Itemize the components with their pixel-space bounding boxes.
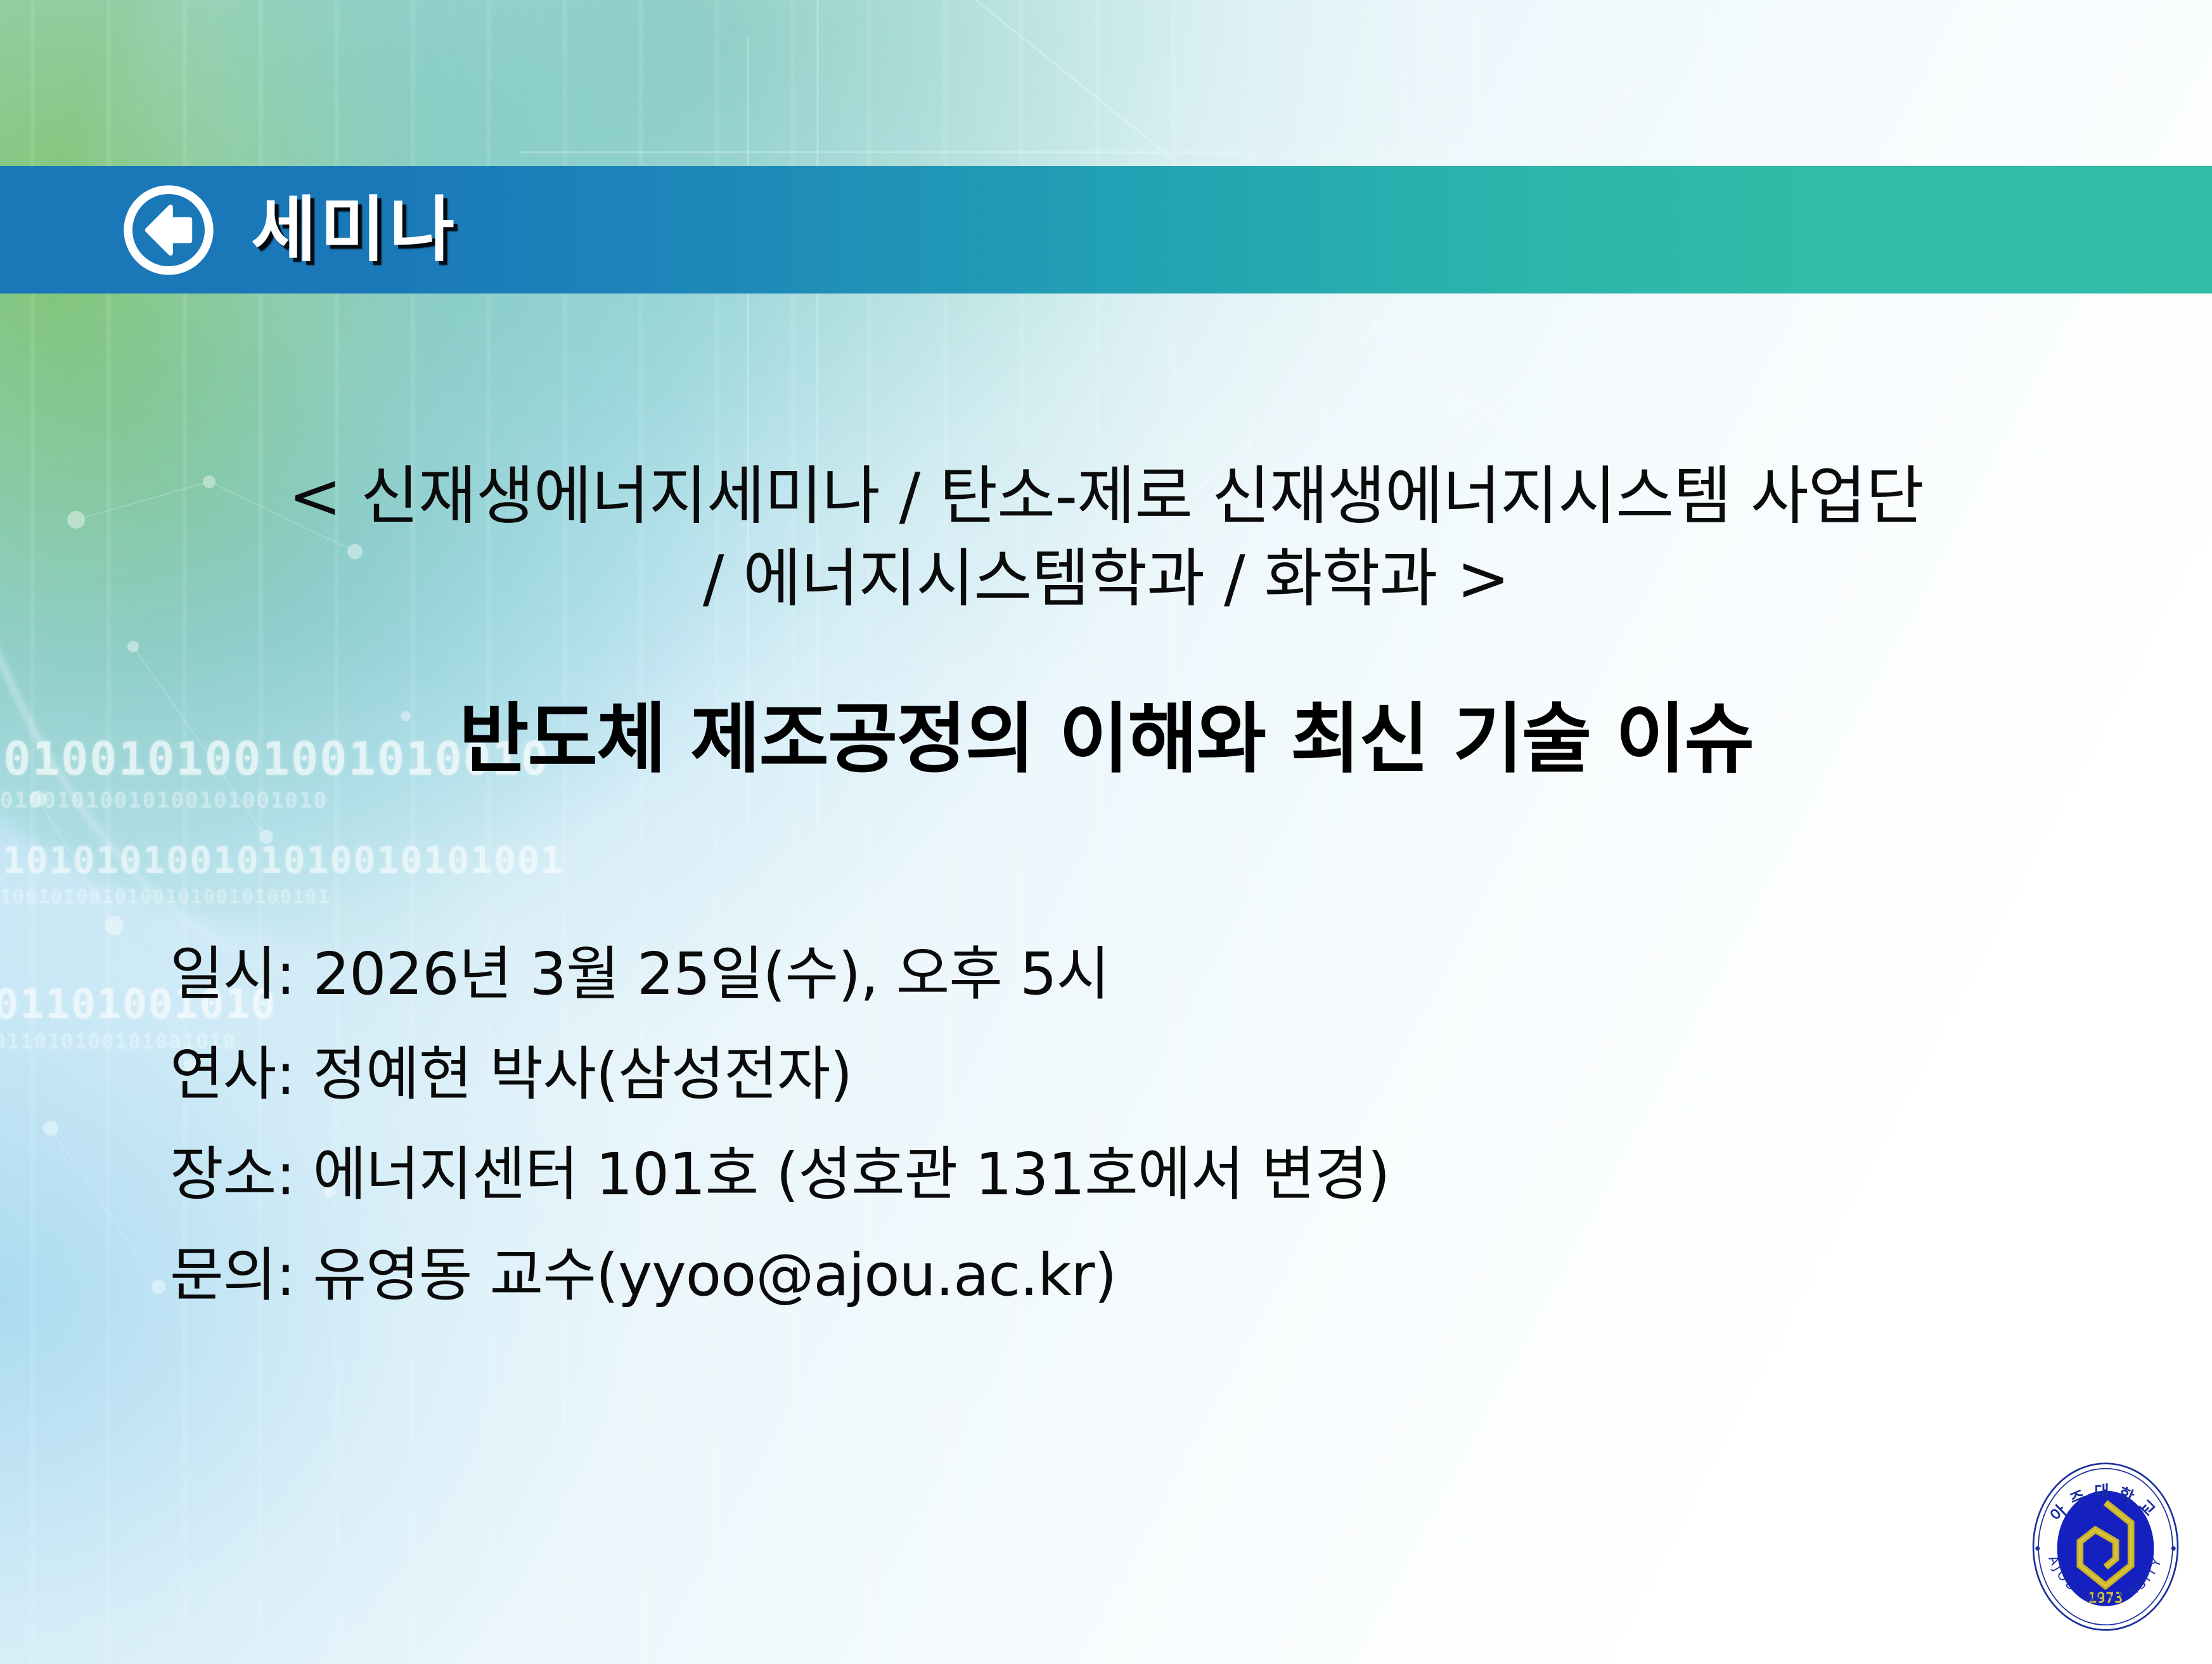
page-header-bar: 세미나 — [0, 166, 2212, 293]
seminar-main-title: 반도체 제조공정의 이해와 최신 기술 이슈 — [51, 677, 2161, 787]
detail-contact: 문의: 유영동 교수(yyoo@ajou.ac.kr) — [170, 1225, 2008, 1325]
page-title: 세미나 — [251, 195, 458, 266]
subtitle-line-1: < 신재생에너지세미나 / 탄소-제로 신재생에너지시스템 사업단 — [51, 455, 2161, 538]
detail-speaker: 연사: 정예현 박사(삼성전자) — [170, 1024, 2008, 1125]
back-arrow-circle-icon[interactable] — [120, 182, 217, 278]
seminar-category-subtitle: < 신재생에너지세미나 / 탄소-제로 신재생에너지시스템 사업단 / 에너지시… — [51, 455, 2161, 620]
subtitle-line-2: / 에너지시스템학과 / 화학과 > — [51, 538, 2161, 620]
ajou-university-seal-icon: 1973 아주대학교 AJOU UNIVERSITY — [2021, 1453, 2190, 1641]
ajou-university-logo: 1973 아주대학교 AJOU UNIVERSITY — [2021, 1453, 2190, 1641]
seminar-details-list: 일시: 2026년 3월 25일(수), 오후 5시 연사: 정예현 박사(삼성… — [170, 924, 2008, 1325]
logo-dot-left — [2035, 1546, 2040, 1551]
seminar-poster-slide: 10100101001001010010 0100101001010010100… — [0, 0, 2212, 1664]
logo-dot-right — [2171, 1546, 2176, 1551]
detail-datetime: 일시: 2026년 3월 25일(수), 오후 5시 — [170, 924, 2008, 1024]
poster-content: < 신재생에너지세미나 / 탄소-제로 신재생에너지시스템 사업단 / 에너지시… — [0, 293, 2212, 1664]
detail-location: 장소: 에너지센터 101호 (성호관 131호에서 변경) — [170, 1125, 2008, 1225]
